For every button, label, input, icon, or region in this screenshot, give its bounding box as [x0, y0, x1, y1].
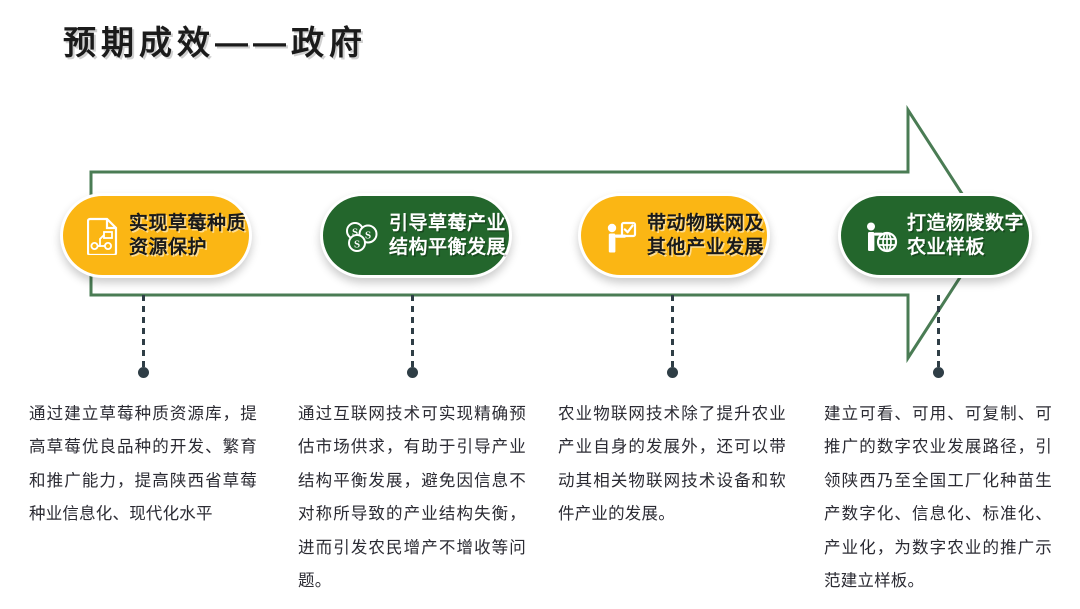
- coins-icon: S S S: [341, 214, 385, 258]
- svg-text:S: S: [365, 229, 371, 241]
- connector-dot-1: [138, 367, 149, 378]
- step-description-3: 农业物联网技术除了提升农业产业自身的发展外，还可以带动其相关物联网技术设备和软件…: [558, 398, 786, 532]
- connector-dot-2: [407, 367, 418, 378]
- slide-canvas: 预期成效——政府 实现草莓种质 资源保护: [0, 0, 1080, 609]
- step-label-1: 实现草莓种质 资源保护: [129, 212, 246, 260]
- step-description-1: 通过建立草莓种质资源库，提高草莓优良品种的开发、繁育和推广能力，提高陕西省草莓种…: [29, 398, 257, 532]
- document-network-icon: [81, 214, 125, 258]
- step-description-4: 建立可看、可用、可复制、可推广的数字农业发展路径，引领陕西乃至全国工厂化种苗生产…: [824, 398, 1052, 599]
- person-checklist-icon: [599, 214, 643, 258]
- connector-line-2: [411, 295, 414, 369]
- step-label-3: 带动物联网及 其他产业发展: [647, 212, 764, 260]
- connector-line-4: [937, 295, 940, 369]
- connector-line-3: [671, 295, 674, 369]
- step-label-4: 打造杨陵数字 农业样板: [907, 212, 1024, 260]
- step-card-4[interactable]: 打造杨陵数字 农业样板: [838, 193, 1032, 278]
- connector-dot-3: [667, 367, 678, 378]
- step-card-3[interactable]: 带动物联网及 其他产业发展: [578, 193, 770, 278]
- step-label-2: 引导草莓产业 结构平衡发展: [389, 212, 506, 260]
- step-description-2: 通过互联网技术可实现精确预估市场供求，有助于引导产业结构平衡发展，避免因信息不对…: [298, 398, 526, 599]
- connector-dot-4: [933, 367, 944, 378]
- person-globe-icon: [859, 214, 903, 258]
- svg-text:S: S: [354, 238, 360, 250]
- connector-line-1: [142, 295, 145, 369]
- step-card-2[interactable]: S S S 引导草莓产业 结构平衡发展: [320, 193, 512, 278]
- step-card-1[interactable]: 实现草莓种质 资源保护: [60, 193, 252, 278]
